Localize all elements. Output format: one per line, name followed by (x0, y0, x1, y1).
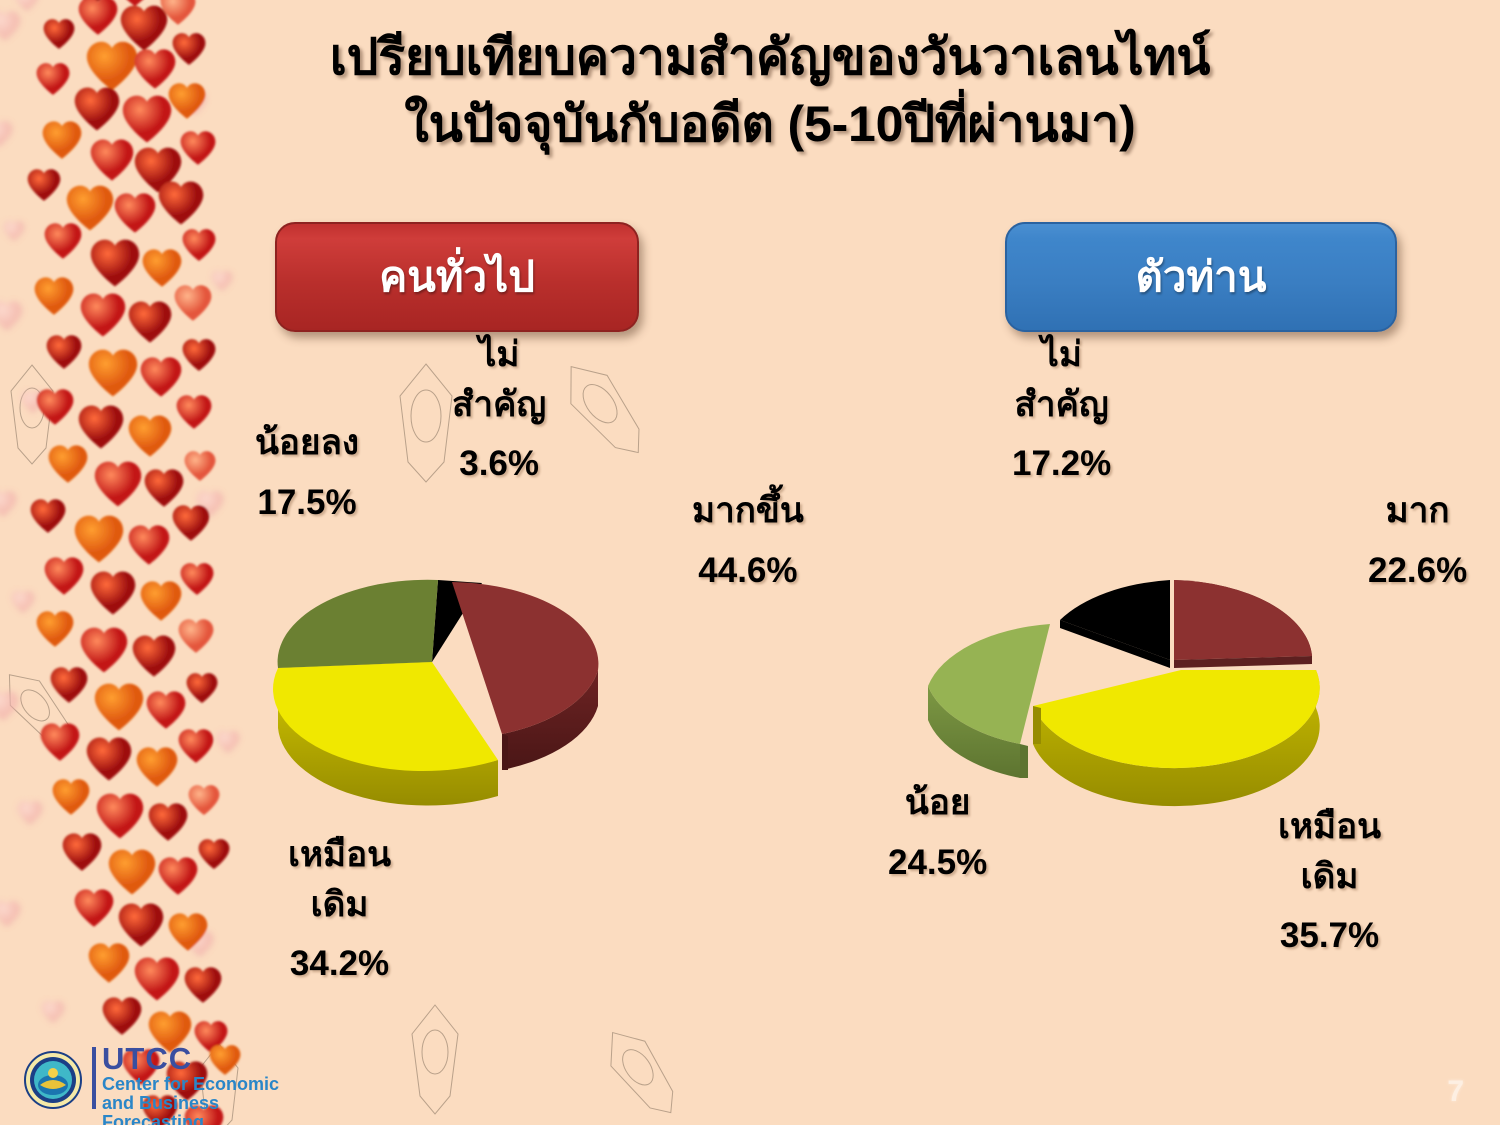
slide-title-line1: เปรียบเทียบความสำคัญของวันวาเลนไทน์ (240, 24, 1300, 91)
page-number: 7 (1447, 1075, 1464, 1109)
watermark-ring-6 (0, 653, 93, 767)
watermark-ring-2 (540, 341, 669, 479)
header-pill-yourself-label: ตัวท่าน (1136, 244, 1267, 310)
label-right-little-pct: 24.5% (888, 838, 987, 888)
label-left-same-name2: เดิม (288, 880, 391, 930)
label-left-more-name: มากขึ้น (692, 486, 804, 536)
label-right-notimportant-name2: สำคัญ (1012, 380, 1111, 430)
label-right-little-name: น้อย (888, 778, 987, 828)
pie-left-slice-less (278, 580, 438, 668)
slide-canvas: เปรียบเทียบความสำคัญของวันวาเลนไทน์ ในปั… (0, 0, 1500, 1125)
logo-subtitle-1: Center for Economic (102, 1075, 306, 1094)
label-left-more: มากขึ้น 44.6% (692, 486, 804, 595)
hearts-decoration (0, 0, 280, 1125)
header-pill-general-people-label: คนทั่วไป (379, 244, 535, 310)
label-left-same: เหมือน เดิม 34.2% (288, 830, 391, 989)
logo-divider (92, 1047, 96, 1109)
label-right-much-name: มาก (1368, 486, 1467, 536)
header-pill-general-people[interactable]: คนทั่วไป (275, 222, 639, 332)
label-right-much-pct: 22.6% (1368, 546, 1467, 596)
watermark-ring-3 (400, 1000, 470, 1120)
logo-text-block: UTCC Center for Economic and Business Fo… (102, 1043, 306, 1125)
label-left-less-pct: 17.5% (255, 478, 359, 528)
watermark-ring-5 (0, 360, 64, 470)
label-left-less-name: น้อยลง (255, 418, 359, 468)
label-left-notimportant-pct: 3.6% (452, 439, 546, 489)
label-right-same: เหมือน เดิม 35.7% (1278, 802, 1381, 961)
label-left-same-name1: เหมือน (288, 830, 391, 880)
footer-logo: UTCC Center for Economic and Business Fo… (6, 1041, 306, 1121)
label-right-same-name2: เดิม (1278, 852, 1381, 902)
label-left-notimportant-name2: สำคัญ (452, 380, 546, 430)
label-left-less: น้อยลง 17.5% (255, 418, 359, 527)
utcc-seal-icon (24, 1051, 82, 1109)
label-right-same-name1: เหมือน (1278, 802, 1381, 852)
label-right-little: น้อย 24.5% (888, 778, 987, 887)
label-left-more-pct: 44.6% (692, 546, 804, 596)
label-left-same-pct: 34.2% (288, 939, 391, 989)
label-right-same-pct: 35.7% (1278, 911, 1381, 961)
label-right-notimportant: ไม่ สำคัญ 17.2% (1012, 330, 1111, 489)
logo-subtitle-2: and Business Forecasting (102, 1094, 306, 1125)
watermark-ring-4 (584, 1010, 700, 1125)
slide-title: เปรียบเทียบความสำคัญของวันวาเลนไทน์ ในปั… (240, 24, 1300, 158)
slide-title-line2: ในปัจจุบันกับอดีต (5-10ปีที่ผ่านมา) (240, 91, 1300, 158)
label-left-notimportant-name1: ไม่ (452, 330, 546, 380)
logo-utcc-label: UTCC (102, 1043, 306, 1074)
label-right-notimportant-pct: 17.2% (1012, 439, 1111, 489)
label-right-notimportant-name1: ไม่ (1012, 330, 1111, 380)
label-right-much: มาก 22.6% (1368, 486, 1467, 595)
pie-right-slice-much (1174, 580, 1312, 660)
header-pill-yourself[interactable]: ตัวท่าน (1005, 222, 1397, 332)
label-left-notimportant: ไม่ สำคัญ 3.6% (452, 330, 546, 489)
